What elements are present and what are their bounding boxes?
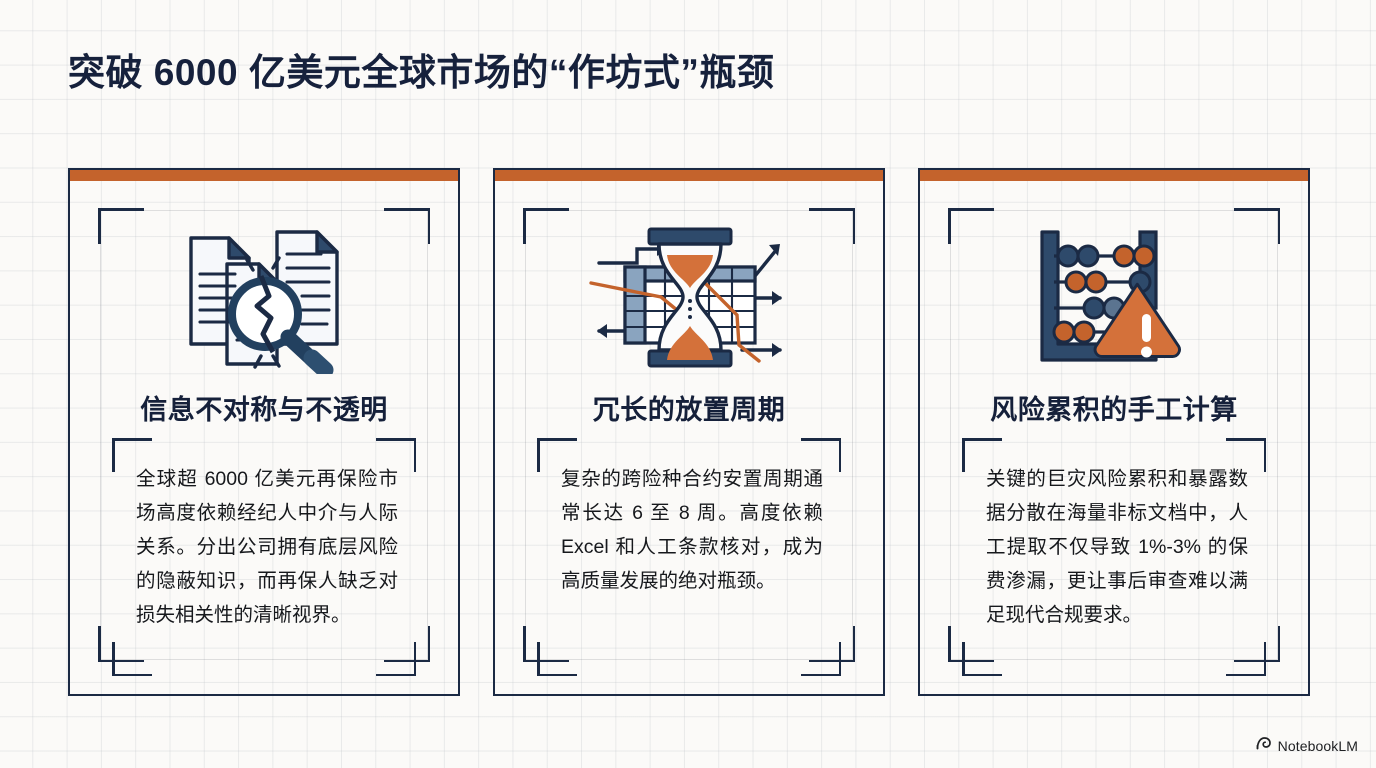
card-body-text: 全球超 6000 亿美元再保险市场高度依赖经纪人中介与人际关系。分出公司拥有底层… bbox=[136, 462, 398, 632]
card-icon-abacus-warning bbox=[920, 216, 1308, 381]
card-icon-hourglass-spreadsheet bbox=[495, 216, 883, 381]
card-body-zone: 关键的巨灾风险累积和暴露数据分散在海量非标文档中，人工提取不仅导致 1%-3% … bbox=[944, 438, 1284, 676]
text-bracket-bottom-right bbox=[376, 642, 416, 676]
card-body-text: 关键的巨灾风险累积和暴露数据分散在海量非标文档中，人工提取不仅导致 1%-3% … bbox=[986, 462, 1248, 632]
card-manual-risk-accumulation[interactable]: 风险累积的手工计算 关键的巨灾风险累积和暴露数据分散在海量非标文档中，人工提取不… bbox=[918, 168, 1310, 696]
card-accent-bar bbox=[920, 170, 1308, 181]
card-body-zone: 全球超 6000 亿美元再保险市场高度依赖经纪人中介与人际关系。分出公司拥有底层… bbox=[94, 438, 434, 676]
text-bracket-bottom-right bbox=[801, 642, 841, 676]
card-body-text: 复杂的跨险种合约安置周期通常长达 6 至 8 周。高度依赖 Excel 和人工条… bbox=[561, 462, 823, 598]
card-information-asymmetry[interactable]: 信息不对称与不透明 全球超 6000 亿美元再保险市场高度依赖经纪人中介与人际关… bbox=[68, 168, 460, 696]
notebooklm-branding: NotebookLM bbox=[1255, 736, 1358, 756]
text-bracket-bottom-left bbox=[962, 642, 1002, 676]
page-title: 突破 6000 亿美元全球市场的“作坊式”瓶颈 bbox=[68, 42, 1308, 96]
card-body-zone: 复杂的跨险种合约安置周期通常长达 6 至 8 周。高度依赖 Excel 和人工条… bbox=[519, 438, 859, 676]
text-bracket-bottom-left bbox=[112, 642, 152, 676]
text-bracket-bottom-right bbox=[1226, 642, 1266, 676]
text-bracket-bottom-left bbox=[537, 642, 577, 676]
card-title: 冗长的放置周期 bbox=[495, 388, 883, 427]
notebooklm-wordmark: NotebookLM bbox=[1278, 738, 1358, 754]
slide-canvas: 突破 6000 亿美元全球市场的“作坊式”瓶颈 bbox=[0, 0, 1376, 768]
cards-row: 信息不对称与不透明 全球超 6000 亿美元再保险市场高度依赖经纪人中介与人际关… bbox=[68, 168, 1310, 696]
card-accent-bar bbox=[70, 170, 458, 181]
card-title: 信息不对称与不透明 bbox=[70, 388, 458, 427]
notebooklm-spiral-icon bbox=[1255, 736, 1272, 756]
card-long-placement-cycle[interactable]: 冗长的放置周期 复杂的跨险种合约安置周期通常长达 6 至 8 周。高度依赖 Ex… bbox=[493, 168, 885, 696]
card-icon-documents-cracked-magnifier bbox=[70, 216, 458, 381]
card-title: 风险累积的手工计算 bbox=[920, 388, 1308, 427]
card-accent-bar bbox=[495, 170, 883, 181]
